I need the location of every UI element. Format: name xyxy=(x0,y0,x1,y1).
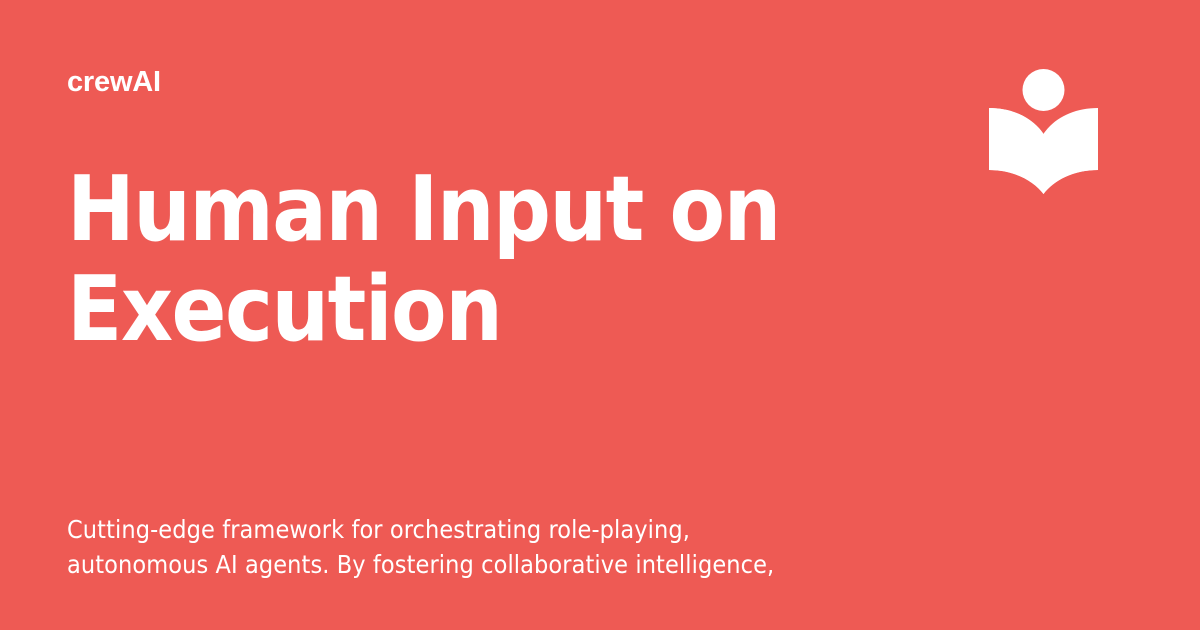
brand-logo: crewAI xyxy=(67,68,161,97)
page-description: Cutting-edge framework for orchestrating… xyxy=(67,512,967,582)
page-title: Human Input on Execution xyxy=(67,160,927,360)
og-preview-card: crewAI Human Input on Execution Cutting-… xyxy=(0,0,1200,630)
open-book-reader-icon xyxy=(985,64,1103,196)
brand-name: crewAI xyxy=(67,68,161,97)
